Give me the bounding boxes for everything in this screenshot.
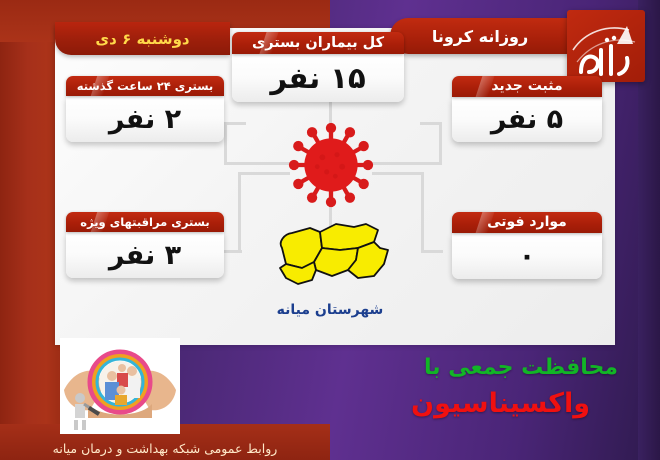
connector-line-left-lower-stub — [224, 250, 242, 253]
connector-line-left-upper — [224, 162, 290, 165]
stat-card-new-positive: مثبت جدید ۵ نفر — [452, 76, 602, 142]
connector-line-right-upper-riser — [439, 122, 442, 165]
stat-value-new-positive: ۵ نفر — [452, 97, 602, 142]
footer-credit: روابط عمومی شبکه بهداشت و درمان میانه — [0, 441, 330, 456]
coronavirus-icon — [288, 122, 374, 208]
date-badge: دوشنبه ۶ دی — [55, 22, 230, 55]
county-map-icon — [262, 218, 398, 296]
site-logo[interactable] — [567, 10, 645, 82]
page-title: روزانه کرونا — [390, 18, 570, 54]
stat-value-hospitalized-24h: ۲ نفر — [66, 96, 224, 142]
stat-value-total-hospitalized: ۱۵ نفر — [232, 54, 404, 102]
stat-label-hospitalized-24h: بستری ۲۴ ساعت گذشته — [66, 76, 224, 96]
stat-label-new-positive: مثبت جدید — [452, 76, 602, 97]
connector-line-right-upper-stub — [420, 122, 442, 125]
stat-label-icu: بستری مراقبتهای ویژه — [66, 212, 224, 232]
logo-calligraphy-icon — [567, 10, 645, 82]
connector-line-right-upper — [372, 162, 442, 165]
stat-value-icu: ۳ نفر — [66, 232, 224, 278]
stat-value-deaths: ۰ — [452, 233, 602, 279]
stat-label-deaths: موارد فوتی — [452, 212, 602, 233]
connector-line-left-upper-riser — [224, 122, 227, 165]
stat-card-total-hospitalized: کل بیماران بستری ۱۵ نفر — [232, 32, 404, 102]
stat-label-total-hospitalized: کل بیماران بستری — [232, 32, 404, 54]
connector-line-right-lower-stub — [421, 250, 443, 253]
stat-card-icu: بستری مراقبتهای ویژه ۳ نفر — [66, 212, 224, 278]
slogan-line-2: واکسیناسیون — [411, 388, 590, 419]
connector-line-left-lower-drop — [238, 172, 241, 252]
connector-line-right-lower — [372, 172, 424, 175]
connector-line-left-upper-stub — [224, 122, 246, 125]
infographic-root: دوشنبه ۶ دی روزانه کرونا کل بیماران بستر… — [0, 0, 660, 460]
connector-line-right-lower-drop — [421, 172, 424, 252]
stat-card-hospitalized-24h: بستری ۲۴ ساعت گذشته ۲ نفر — [66, 76, 224, 142]
slogan-line-1: محافظت جمعی با — [424, 355, 618, 380]
connector-line-left-lower — [238, 172, 290, 175]
map-label: شهرستان میانه — [252, 302, 408, 318]
vaccination-photo — [60, 338, 180, 434]
background-red-left-band — [0, 0, 62, 460]
stat-card-deaths: موارد فوتی ۰ — [452, 212, 602, 279]
